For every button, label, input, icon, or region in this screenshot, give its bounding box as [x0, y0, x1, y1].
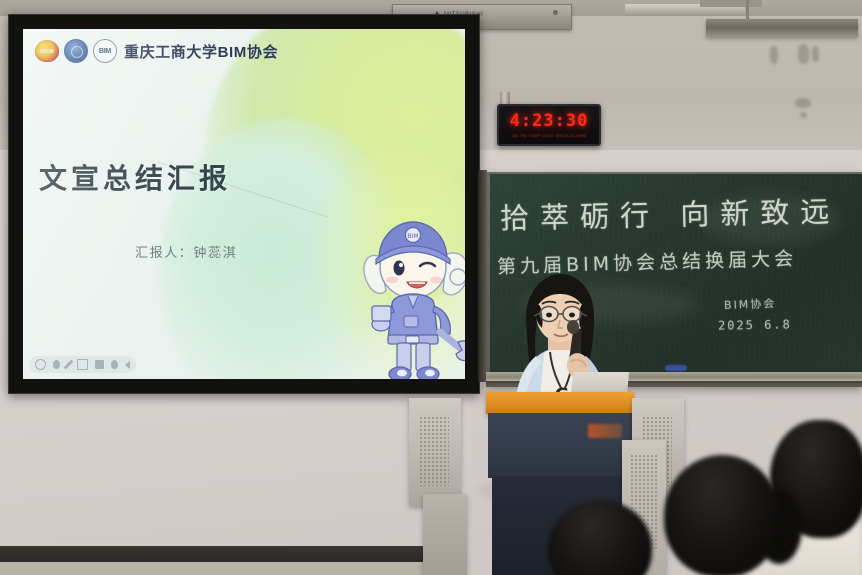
- wall-stain: [795, 98, 811, 108]
- wall-baseboard: [0, 546, 430, 563]
- national-emblem-logo-icon: [35, 40, 59, 62]
- podium-speaker-left: [409, 398, 461, 506]
- floor-strip: [0, 562, 430, 575]
- wall-stain: [798, 44, 809, 64]
- projected-slide: BIM 重庆工商大学BIM协会 文宣总结汇报 汇报人：钟蕊淇: [23, 29, 465, 379]
- slide-organization-name: 重庆工商大学BIM协会: [124, 41, 278, 62]
- pen-circle-icon[interactable]: [53, 360, 60, 369]
- wall-stain: [770, 46, 778, 64]
- slide-thumbnail-icon[interactable]: [95, 360, 104, 369]
- podium-desk-top: [486, 392, 634, 414]
- podium-logo-mark: [588, 424, 622, 438]
- bim-badge-logo-icon: BIM: [93, 39, 117, 63]
- wall-stain: [800, 112, 807, 118]
- pen-icon[interactable]: [64, 360, 74, 370]
- pointer-icon[interactable]: [35, 359, 46, 370]
- svg-text:BIM: BIM: [407, 233, 418, 240]
- housing-screw: [553, 10, 558, 15]
- classroom-scene: MITSUBISHI BIM 重庆工商大学BIM协会 文宣总结汇报 汇报人：钟蕊…: [0, 0, 862, 575]
- chalk-stick: [665, 365, 687, 371]
- wall-stain: [812, 46, 819, 62]
- previous-slide-icon[interactable]: [125, 361, 130, 369]
- slide-presenter-line: 汇报人：钟蕊淇: [135, 242, 237, 261]
- ceiling-light-tube-secondary: [700, 0, 762, 7]
- university-seal-logo-icon: [64, 39, 88, 63]
- led-wall-clock: 4:23:30 AM PM TEMP DATE WEEK ALARM: [497, 104, 601, 146]
- clock-time-display: 4:23:30: [505, 112, 593, 131]
- presentation-toolbar[interactable]: [29, 356, 136, 373]
- ceiling-light-fixture: [706, 19, 858, 37]
- ceiling-light-rod: [746, 0, 749, 20]
- engineer-mascot-illustration: BIM: [348, 204, 465, 379]
- eraser-icon[interactable]: [111, 360, 118, 369]
- blackboard-signature: BIM协会: [724, 295, 777, 313]
- highlighter-icon[interactable]: [77, 359, 88, 370]
- podium-speaker-left-lower: [423, 494, 467, 575]
- clock-indicator-labels: AM PM TEMP DATE WEEK ALARM: [505, 133, 593, 140]
- audience-head-center: [664, 455, 780, 575]
- projection-screen-frame: BIM 重庆工商大学BIM协会 文宣总结汇报 汇报人：钟蕊淇: [8, 14, 480, 394]
- blackboard-headline: 拾萃砺行 向新致远: [500, 188, 841, 237]
- slide-title: 文宣总结汇报: [39, 157, 231, 197]
- blackboard-date: 2025 6.8: [718, 317, 792, 332]
- podium-front-panel: [488, 413, 632, 478]
- speaker-grille-icon: [419, 416, 449, 486]
- slide-header: BIM 重庆工商大学BIM协会: [35, 39, 278, 63]
